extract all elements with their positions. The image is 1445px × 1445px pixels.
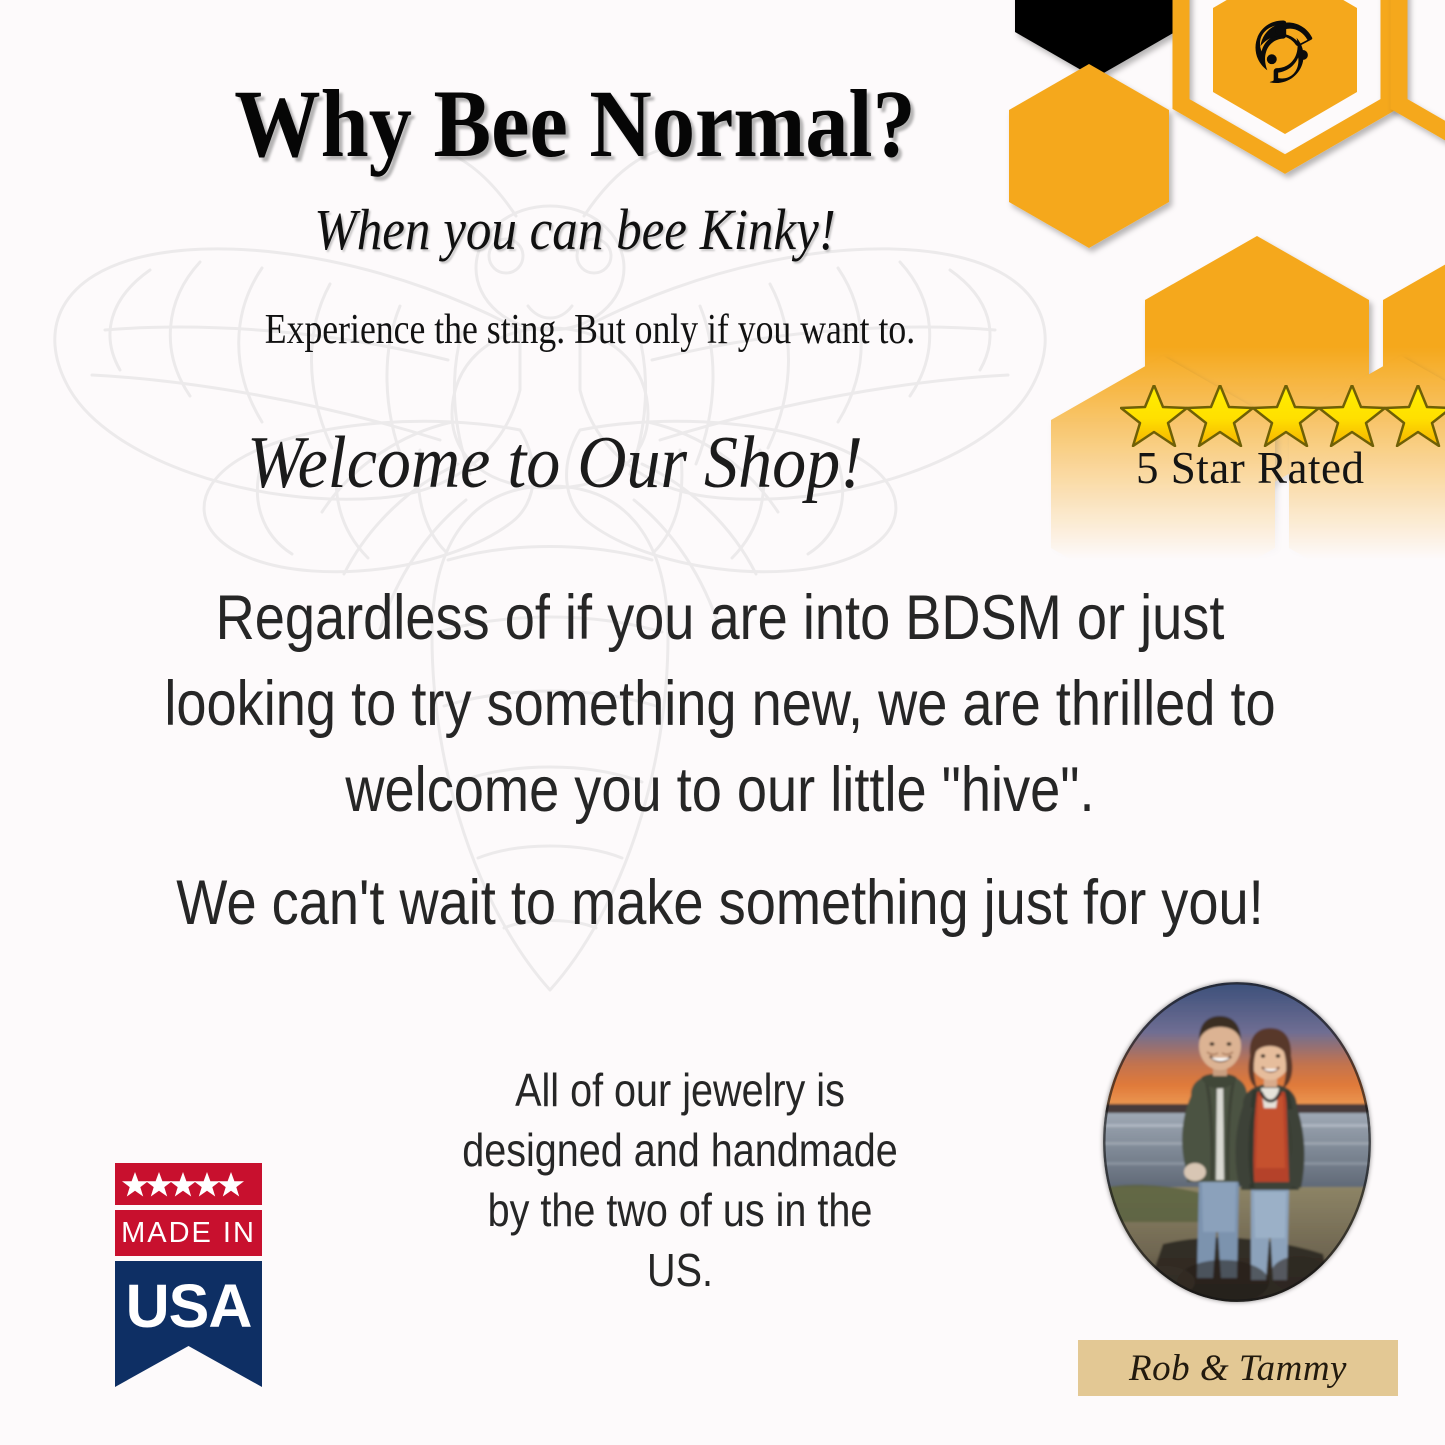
welcome-heading: Welcome to Our Shop! bbox=[44, 420, 1065, 506]
closing-paragraph: We can't wait to make something just for… bbox=[152, 860, 1287, 946]
rating-label: 5 Star Rated bbox=[1136, 443, 1445, 493]
owner-caption: Rob & Tammy bbox=[1078, 1340, 1398, 1396]
intro-paragraph: Regardless of if you are into BDSM or ju… bbox=[152, 575, 1287, 833]
owner-photo-frame bbox=[1103, 982, 1371, 1302]
usa-badge-bottom-label: USA bbox=[126, 1272, 252, 1340]
page-title: Why Bee Normal? bbox=[58, 72, 1093, 176]
bdsm-triskelion-icon bbox=[1256, 21, 1313, 84]
made-in-usa-badge: MADE IN USA bbox=[115, 1163, 262, 1387]
owner-photo bbox=[1103, 982, 1371, 1302]
page-subtitle: When you can bee Kinky! bbox=[69, 198, 1081, 262]
rating-badge: 5 Star Rated bbox=[1108, 385, 1445, 493]
usa-badge-top-label: MADE IN bbox=[121, 1217, 256, 1249]
page-tagline: Experience the sting. But only if you wa… bbox=[89, 305, 1092, 355]
star-rating-icons bbox=[1120, 385, 1445, 447]
promo-banner: 5 Star Rated Why Bee Normal? When you ca… bbox=[0, 0, 1445, 1445]
handmade-paragraph: All of our jewelry is designed and handm… bbox=[456, 1060, 903, 1300]
